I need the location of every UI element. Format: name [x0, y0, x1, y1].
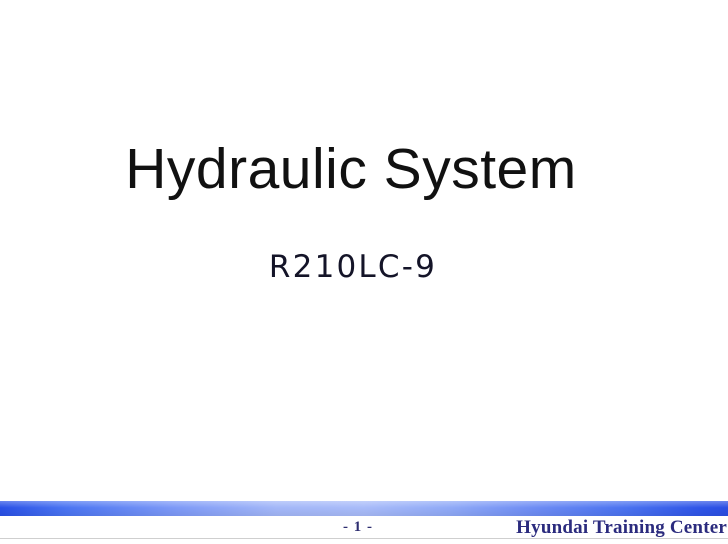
slide-subtitle: R210LC-9	[0, 249, 706, 285]
bottom-divider	[0, 538, 728, 539]
presentation-slide: Hydraulic System R210LC-9 - 1 - Hyundai …	[0, 0, 728, 544]
page-title: Hydraulic System	[0, 140, 702, 200]
footer-brand-label: Hyundai Training Center	[516, 517, 727, 539]
footer-gradient-bar	[0, 501, 728, 516]
title-block: Hydraulic System	[0, 140, 702, 200]
footer: - 1 - Hyundai Training Center	[0, 516, 728, 539]
